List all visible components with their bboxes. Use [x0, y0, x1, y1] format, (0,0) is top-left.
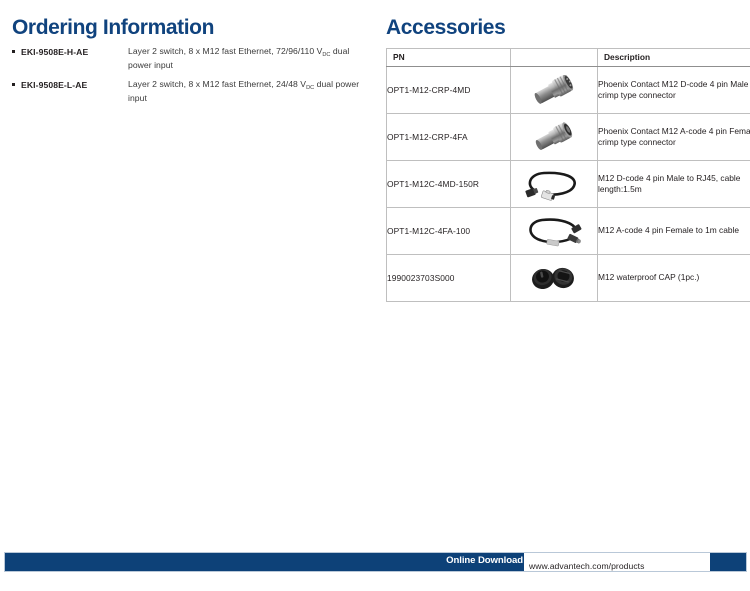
online-download-label: Online Download: [446, 555, 523, 566]
cell-part-number: OPT1-M12C-4MD-150R: [387, 161, 511, 208]
m12-male-connector-image: [526, 75, 582, 105]
cell-product-image: [511, 255, 598, 302]
table-row: OPT1-M12-CRP-4MD: [387, 67, 750, 114]
online-download-url-box[interactable]: www.advantech.com/products: [524, 553, 710, 571]
column-header-description: Description: [598, 49, 750, 67]
table-row: OPT1-M12C-4MD-150R M12 D-code 4 pin Male…: [387, 161, 750, 208]
m12-to-rj45-cable-image: [522, 167, 586, 201]
accessories-heading: Accessories: [386, 16, 505, 40]
ordering-item-description-pre: Layer 2 switch, 8 x M12 fast Ethernet, 7…: [128, 46, 322, 56]
square-bullet-icon: [12, 79, 21, 86]
m12-female-connector-image: [526, 122, 582, 152]
cell-description: M12 A-code 4 pin Female to 1m cable: [598, 208, 750, 255]
m12-waterproof-cap-image: [525, 262, 583, 294]
square-bullet-icon: [12, 46, 21, 53]
table-row: OPT1-M12C-4FA-100: [387, 208, 750, 255]
ordering-information-heading: Ordering Information: [12, 16, 214, 40]
cell-part-number: OPT1-M12C-4FA-100: [387, 208, 511, 255]
m12-female-cable-image: [522, 214, 586, 248]
cell-part-number: OPT1-M12-CRP-4MD: [387, 67, 511, 114]
cell-product-image: [511, 161, 598, 208]
column-header-pn: PN: [387, 49, 511, 67]
ordering-list-item: EKI-9508E-L-AE Layer 2 switch, 8 x M12 f…: [12, 79, 372, 104]
cell-part-number: 1990023703S000: [387, 255, 511, 302]
ordering-item-description: Layer 2 switch, 8 x M12 fast Ethernet, 2…: [128, 79, 372, 104]
table-header-row: PN Description: [387, 49, 750, 67]
cell-product-image: [511, 114, 598, 161]
ordering-item-part-number: EKI-9508E-H-AE: [21, 46, 128, 58]
cell-product-image: [511, 67, 598, 114]
accessories-table: PN Description OPT1-M12-CRP-4MD: [386, 48, 750, 302]
ordering-information-list: EKI-9508E-H-AE Layer 2 switch, 8 x M12 f…: [12, 46, 372, 112]
cell-part-number: OPT1-M12-CRP-4FA: [387, 114, 511, 161]
ordering-item-description-pre: Layer 2 switch, 8 x M12 fast Ethernet, 2…: [128, 79, 306, 89]
ordering-item-description: Layer 2 switch, 8 x M12 fast Ethernet, 7…: [128, 46, 372, 71]
cell-description: Phoenix Contact M12 A-code 4 pin Female …: [598, 114, 750, 161]
cell-description: M12 D-code 4 pin Male to RJ45, cable len…: [598, 161, 750, 208]
table-row: 1990023703S000: [387, 255, 750, 302]
cell-description: Phoenix Contact M12 D-code 4 pin Male cr…: [598, 67, 750, 114]
ordering-list-item: EKI-9508E-H-AE Layer 2 switch, 8 x M12 f…: [12, 46, 372, 71]
column-header-image: [511, 49, 598, 67]
cell-description: M12 waterproof CAP (1pc.): [598, 255, 750, 302]
online-download-url-text[interactable]: www.advantech.com/products: [529, 561, 644, 571]
cell-product-image: [511, 208, 598, 255]
ordering-item-part-number: EKI-9508E-L-AE: [21, 79, 128, 91]
ordering-item-description-subscript: DC: [322, 52, 330, 58]
table-row: OPT1-M12-CRP-4FA Phoeni: [387, 114, 750, 161]
ordering-item-description-subscript: DC: [306, 85, 314, 91]
